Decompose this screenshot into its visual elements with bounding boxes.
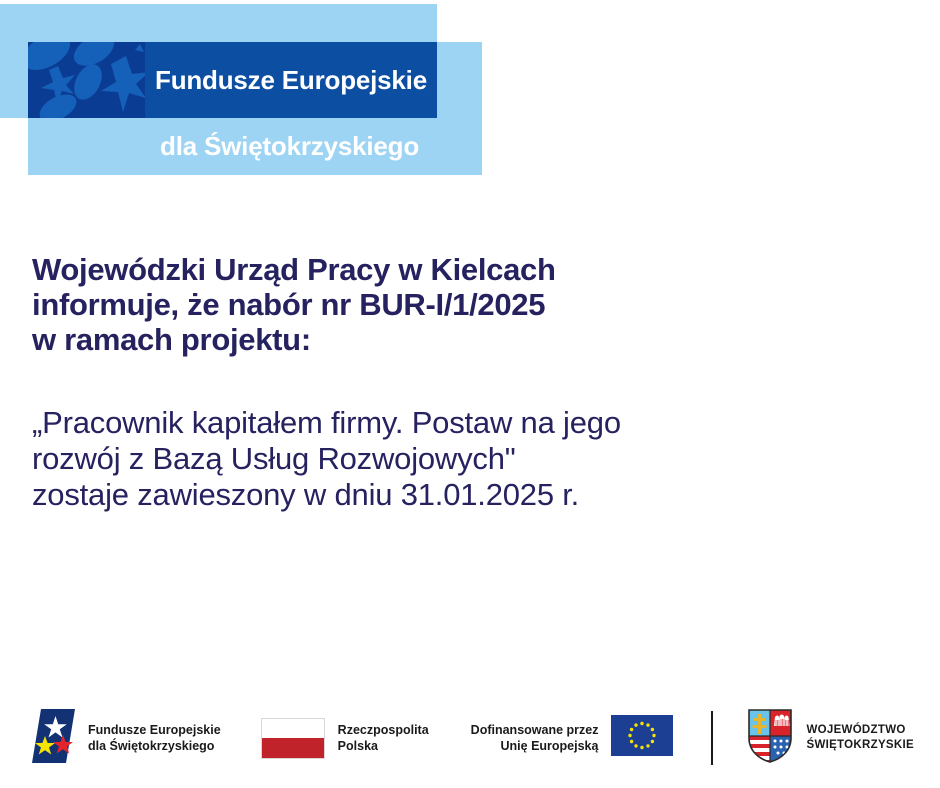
swietokrzyskie-coat-of-arms-icon bbox=[746, 707, 794, 770]
announcement-body: „Pracownik kapitałem firmy. Postaw na je… bbox=[32, 357, 908, 513]
footer-rzeczpospolita-label: Rzeczpospolita Polska bbox=[338, 722, 429, 754]
header-title: Fundusze Europejskie bbox=[145, 42, 437, 118]
footer-logo-fundusze-europejskie: Fundusze Europejskie dla Świętokrzyskieg… bbox=[30, 707, 221, 769]
footer-logo-rzeczpospolita-polska: Rzeczpospolita Polska bbox=[261, 707, 429, 769]
footer-logo-unia-europejska: Dofinansowane przez Unię Europejską bbox=[471, 707, 674, 769]
footer-unia-label: Dofinansowane przez Unię Europejską bbox=[471, 722, 599, 754]
header-star-pattern-icon bbox=[28, 42, 145, 118]
header-logo-block: Fundusze Europejskie dla Świętokrzyskieg… bbox=[0, 0, 500, 190]
footer-fundusze-label: Fundusze Europejskie dla Świętokrzyskieg… bbox=[88, 722, 221, 754]
main-content: Wojewódzki Urząd Pracy w Kielcach inform… bbox=[32, 252, 908, 513]
european-union-flag-icon bbox=[611, 715, 673, 761]
footer-divider bbox=[711, 711, 713, 765]
footer-logo-wojewodztwo-swietokrzyskie: WOJEWÓDZTWO ŚWIĘTOKRZYSKIE bbox=[746, 707, 914, 769]
announcement-headline: Wojewódzki Urząd Pracy w Kielcach inform… bbox=[32, 252, 908, 357]
footer-logo-bar: Fundusze Europejskie dla Świętokrzyskieg… bbox=[0, 688, 940, 788]
footer-wojewodztwo-label: WOJEWÓDZTWO ŚWIĘTOKRZYSKIE bbox=[806, 723, 914, 753]
fundusze-europejskie-stars-icon bbox=[30, 707, 77, 770]
header-subtitle: dla Świętokrzyskiego bbox=[28, 118, 428, 175]
poland-flag-icon bbox=[261, 718, 325, 759]
